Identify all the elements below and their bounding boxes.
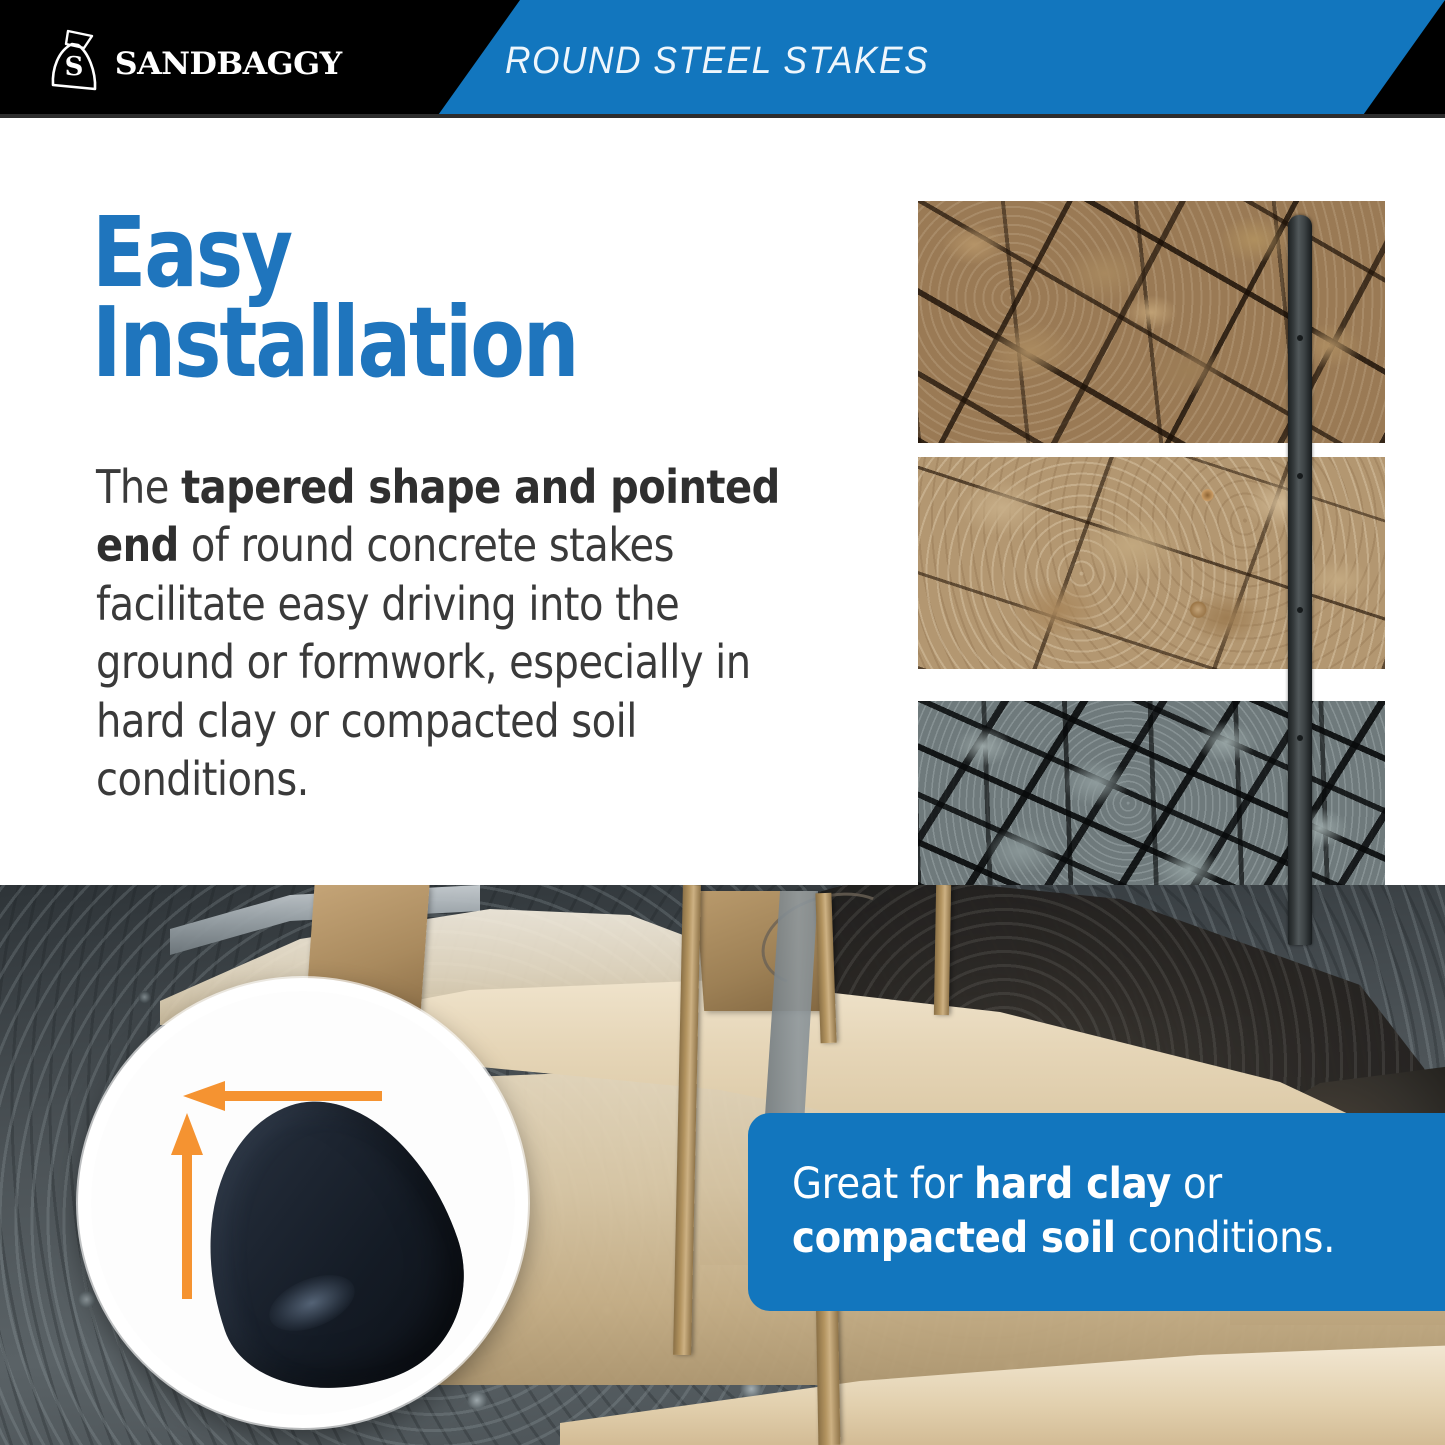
callout-bold-2: compacted soil [792, 1213, 1116, 1263]
callout-part-2: or [1171, 1159, 1222, 1209]
stake-hole [1297, 335, 1303, 341]
body-part-1: The [96, 460, 181, 514]
callout-banner: Great for hard clay or compacted soil co… [748, 1113, 1445, 1311]
soil-panel-cracked-brown-clay [918, 201, 1385, 443]
headline-line-2: Installation [92, 298, 715, 388]
soil-texture-tan [918, 457, 1385, 669]
soil-texture-brown [918, 201, 1385, 443]
page-headline: Easy Installation [92, 208, 715, 388]
soil-panel-compacted-tan-soil [918, 457, 1385, 669]
stake-hole [1297, 607, 1303, 613]
callout-part-3: conditions. [1116, 1213, 1335, 1263]
brand-logo[interactable]: S SANDBAGGY [48, 27, 340, 93]
body-paragraph: The tapered shape and pointed end of rou… [96, 458, 783, 808]
callout-part-1: Great for [792, 1159, 974, 1209]
callout-text: Great for hard clay or compacted soil co… [792, 1158, 1346, 1266]
round-steel-stake [1288, 215, 1312, 945]
callout-bold-1: hard clay [974, 1159, 1171, 1209]
header-banner: S SANDBAGGY ROUND STEEL STAKES [0, 0, 1445, 118]
stake-tip-closeup [78, 978, 528, 1428]
wooden-stake [934, 885, 951, 1015]
stake-hole [1297, 735, 1303, 741]
soil-sample-panels [918, 201, 1385, 928]
header-divider [0, 114, 1445, 118]
arrow-up-icon [169, 1109, 205, 1299]
stake-hole [1297, 473, 1303, 479]
body-part-2: of round concrete stakes facilitate easy… [96, 518, 751, 806]
arrow-left-icon [177, 1079, 382, 1113]
product-title: ROUND STEEL STAKES [505, 40, 929, 83]
infographic-page: S SANDBAGGY ROUND STEEL STAKES Easy Inst… [0, 0, 1445, 1445]
brand-name: SANDBAGGY [115, 38, 342, 82]
svg-text:S: S [65, 52, 84, 82]
sandbag-icon: S [48, 27, 104, 93]
